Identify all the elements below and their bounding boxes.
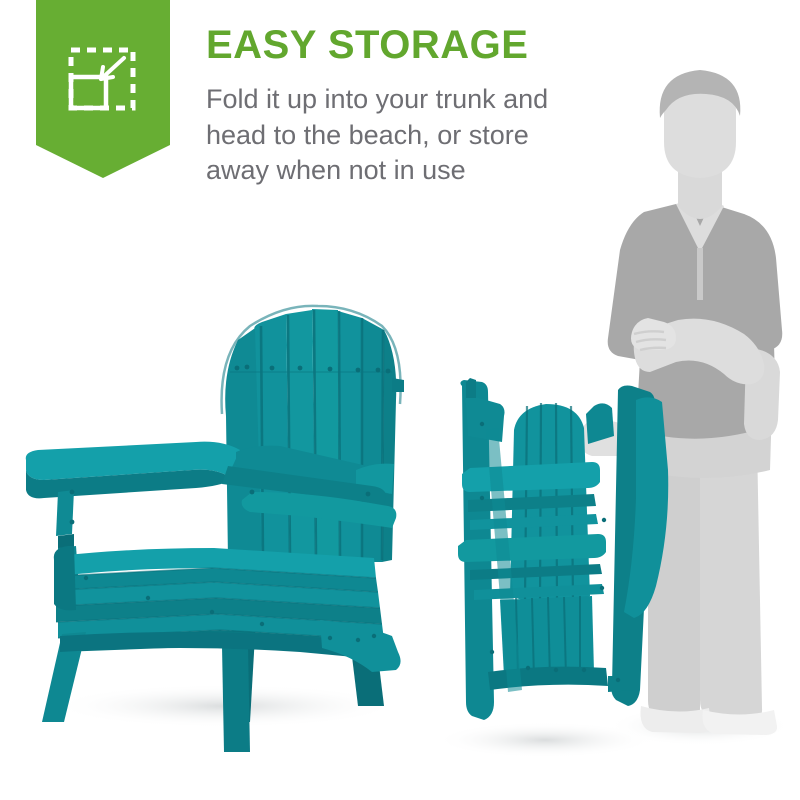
chair-back-cross-support bbox=[230, 365, 392, 374]
folded-chair-lower-slats bbox=[500, 596, 594, 680]
folded-chair-rails bbox=[458, 462, 606, 600]
chair-front-leg-center bbox=[222, 646, 250, 752]
chair-back-slats bbox=[222, 306, 401, 562]
folded-chair-rivets bbox=[480, 422, 620, 682]
easy-storage-badge bbox=[36, 0, 170, 178]
description-line-2: head to the beach, or store bbox=[206, 118, 626, 154]
collapse-shrink-icon bbox=[67, 46, 139, 116]
chair-shadow-left bbox=[50, 684, 400, 728]
description-line-1: Fold it up into your trunk and bbox=[206, 82, 626, 118]
chair-unfolded bbox=[26, 306, 404, 752]
chair-rivets bbox=[70, 490, 377, 643]
chair-armrest-right-plank bbox=[222, 466, 386, 506]
chair-armrest-left bbox=[26, 442, 240, 550]
description-line-3: away when not in use bbox=[206, 153, 626, 189]
chair-folded bbox=[444, 378, 669, 720]
product-feature-panel: EASY STORAGE Fold it up into your trunk … bbox=[0, 0, 800, 800]
chair-front-leg-left bbox=[42, 632, 86, 722]
chair-shadow-right bbox=[435, 722, 655, 758]
chair-armrest-right bbox=[236, 446, 394, 494]
feature-description: Fold it up into your trunk and head to t… bbox=[206, 82, 626, 189]
chair-seat-slats bbox=[56, 548, 386, 654]
folded-chair-fan-back bbox=[510, 403, 590, 604]
page-title: EASY STORAGE bbox=[206, 24, 528, 66]
